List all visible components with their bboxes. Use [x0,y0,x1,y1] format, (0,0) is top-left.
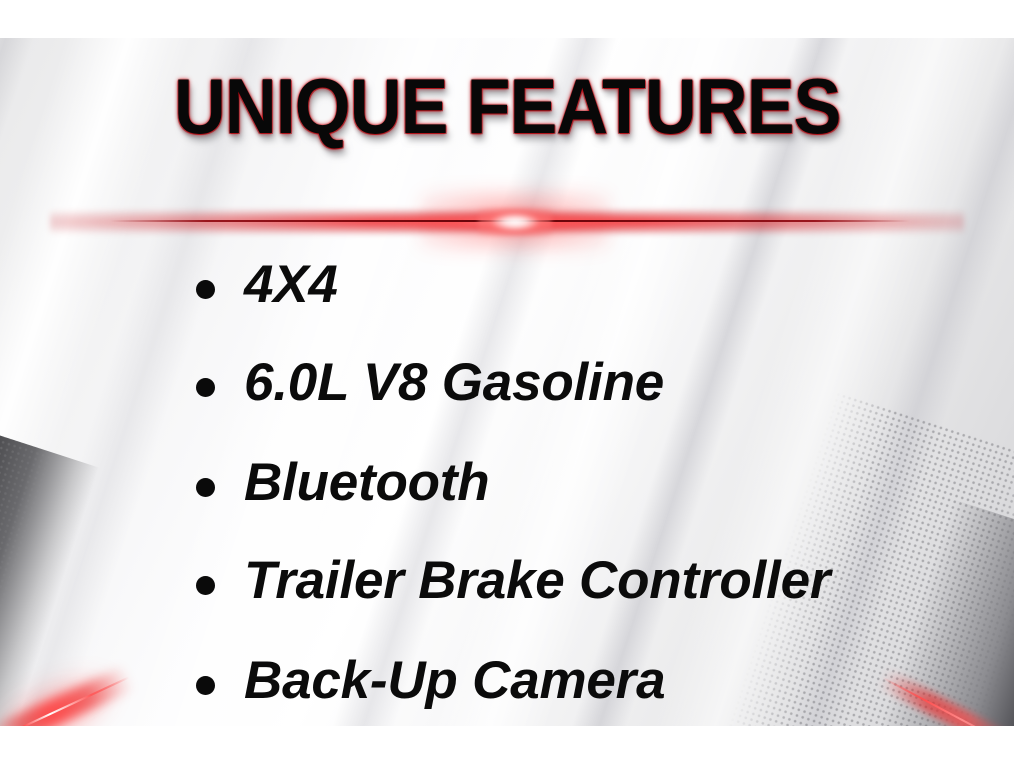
features-list: 4X4 6.0L V8 Gasoline Bluetooth Trailer B… [0,244,1014,726]
list-item-label: 4X4 [244,258,338,311]
list-item: Trailer Brake Controller [0,541,1014,640]
list-item-label: 6.0L V8 Gasoline [244,356,664,409]
list-item: 4X4 [0,244,1014,343]
flare-line [110,220,910,222]
list-item: Bluetooth [0,442,1014,541]
red-flare-divider [0,196,1014,248]
title-container: UNIQUE FEATURES [0,64,1014,148]
page-title: UNIQUE FEATURES [174,64,841,148]
bullet-icon [196,378,215,397]
bullet-icon [196,576,215,595]
feature-slide: UNIQUE FEATURES 4X4 6.0L V8 Gasoline Blu… [0,0,1024,768]
flare-spread [50,210,964,234]
bullet-icon [196,676,215,695]
flare-bloom [420,190,610,252]
right-margin [1014,0,1024,768]
slide-panel: UNIQUE FEATURES 4X4 6.0L V8 Gasoline Blu… [0,38,1014,726]
bullet-icon [196,478,215,497]
list-item: 6.0L V8 Gasoline [0,343,1014,442]
bullet-icon [196,280,215,299]
list-item-label: Back-Up Camera [244,654,665,707]
top-margin [0,0,1024,38]
bottom-margin [0,726,1024,768]
list-item-label: Trailer Brake Controller [244,554,830,607]
list-item: Back-Up Camera [0,640,1014,726]
list-item-label: Bluetooth [244,456,489,509]
flare-hotspot [478,208,552,236]
